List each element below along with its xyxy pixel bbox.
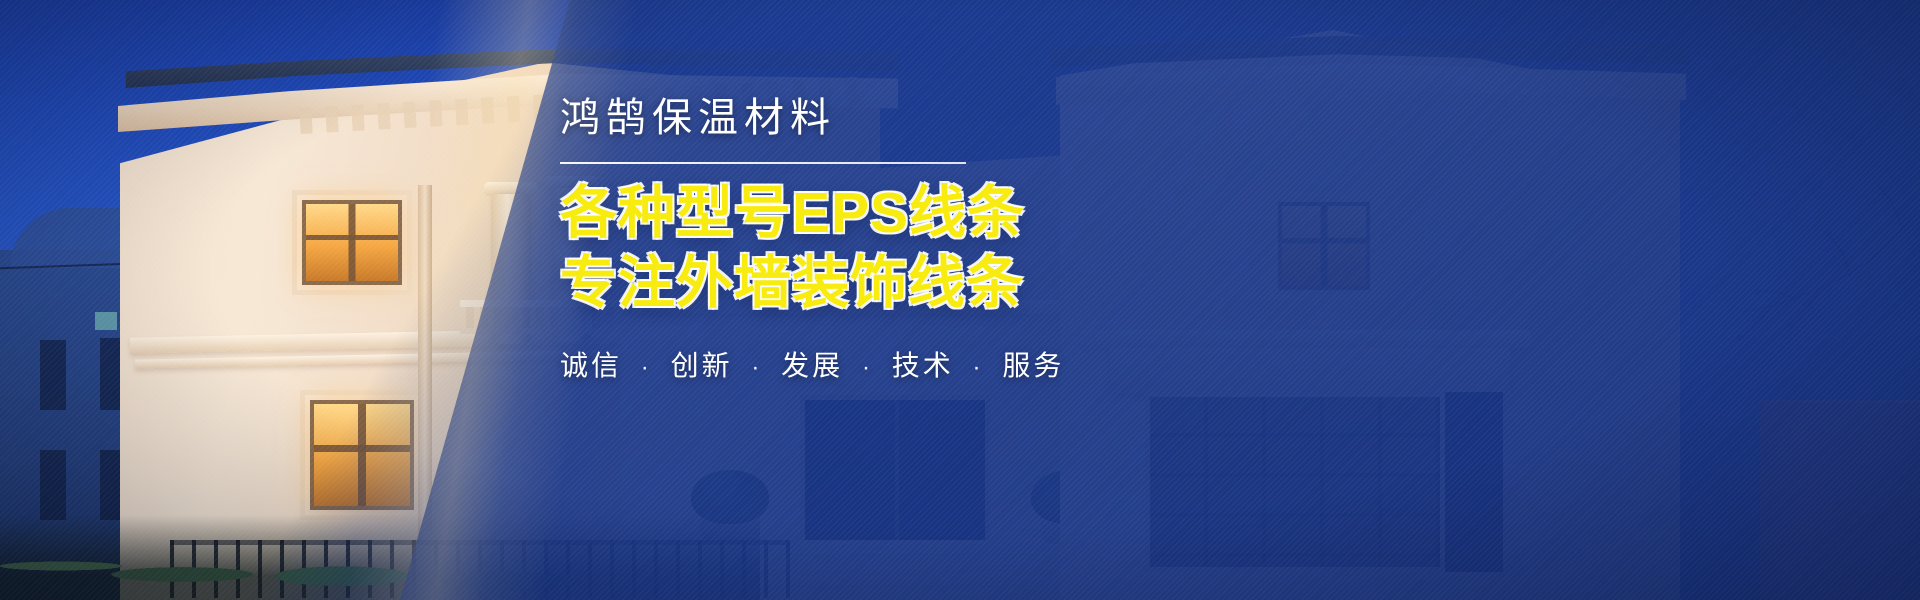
headline-line-1: 各种型号EPS线条 xyxy=(560,178,1320,248)
tagline-item-2: 发展 xyxy=(781,350,843,381)
tagline-separator: · xyxy=(743,354,770,381)
tagline-separator: · xyxy=(854,354,881,381)
tagline-separator: · xyxy=(633,354,660,381)
tagline: 诚信 · 创新 · 发展 · 技术 · 服务 xyxy=(560,344,1320,384)
promo-banner: 鸿鹄保温材料 各种型号EPS线条 专注外墙装饰线条 诚信 · 创新 · 发展 ·… xyxy=(0,0,1920,600)
tagline-separator: · xyxy=(965,354,992,381)
tagline-item-0: 诚信 xyxy=(560,350,622,381)
tagline-item-4: 服务 xyxy=(1002,350,1064,381)
divider-rule xyxy=(560,162,966,164)
brand-name: 鸿鹄保温材料 xyxy=(560,96,1320,140)
headline-line-2: 专注外墙装饰线条 xyxy=(560,248,1320,318)
tagline-item-3: 技术 xyxy=(892,350,954,381)
tagline-item-1: 创新 xyxy=(671,350,733,381)
banner-copy: 鸿鹄保温材料 各种型号EPS线条 专注外墙装饰线条 诚信 · 创新 · 发展 ·… xyxy=(560,96,1320,384)
